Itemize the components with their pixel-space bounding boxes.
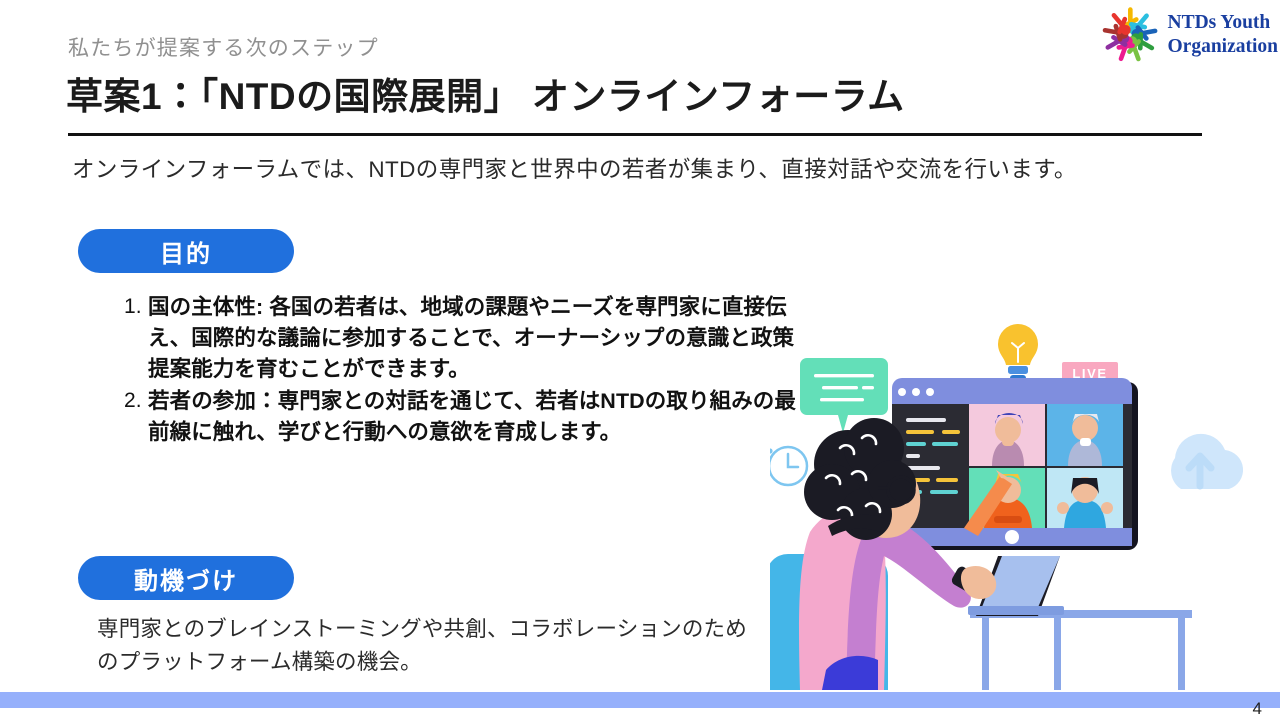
list-item: 若者の参加：専門家との対話を通じて、若者はNTDの取り組みの最前線に触れ、学びと… <box>124 386 814 448</box>
section-pill-motivation: 動機づけ <box>78 556 294 600</box>
page-title: 草案1：「NTDの国際展開」 オンラインフォーラム <box>66 66 905 120</box>
logo-wordmark: NTDs Youth Organization <box>1168 11 1279 59</box>
monitor-video-grid <box>892 378 1138 550</box>
desk <box>970 610 1192 690</box>
purpose-list: 国の主体性: 各国の若者は、地域の課題やニーズを専門家に直接伝え、国際的な議論に… <box>124 292 814 449</box>
organization-logo: NTDs Youth Organization <box>1096 2 1279 68</box>
video-tile-2 <box>1047 404 1123 466</box>
section-pill-purpose: 目的 <box>78 229 294 273</box>
clock-icon <box>770 447 807 485</box>
slide-eyebrow: 私たちが提案する次のステップ <box>68 32 379 62</box>
starburst-people-logo-icon <box>1096 2 1164 68</box>
logo-line-2: Organization <box>1168 35 1279 59</box>
motivation-body-text: 専門家とのブレインストーミングや共創、コラボレーションのためのプラットフォーム構… <box>97 613 747 680</box>
title-divider <box>68 133 1202 136</box>
video-tile-1 <box>969 404 1045 466</box>
list-item: 国の主体性: 各国の若者は、地域の課題やニーズを専門家に直接伝え、国際的な議論に… <box>124 292 814 385</box>
slide-canvas: 私たちが提案する次のステップ 草案1：「NTDの国際展開」 オンラインフォーラム… <box>0 0 1280 720</box>
logo-line-1: NTDs Youth <box>1168 11 1279 35</box>
lightbulb-icon <box>998 324 1038 381</box>
online-video-conference-illustration: LIVE <box>770 318 1270 690</box>
page-number: 4 <box>1253 699 1262 719</box>
footer-bar <box>0 692 1280 708</box>
video-tile-4 <box>1047 468 1123 528</box>
slide-subtitle: オンラインフォーラムでは、NTDの専門家と世界中の若者が集まり、直接対話や交流を… <box>72 152 1077 184</box>
cloud-upload-icon <box>1171 434 1243 489</box>
